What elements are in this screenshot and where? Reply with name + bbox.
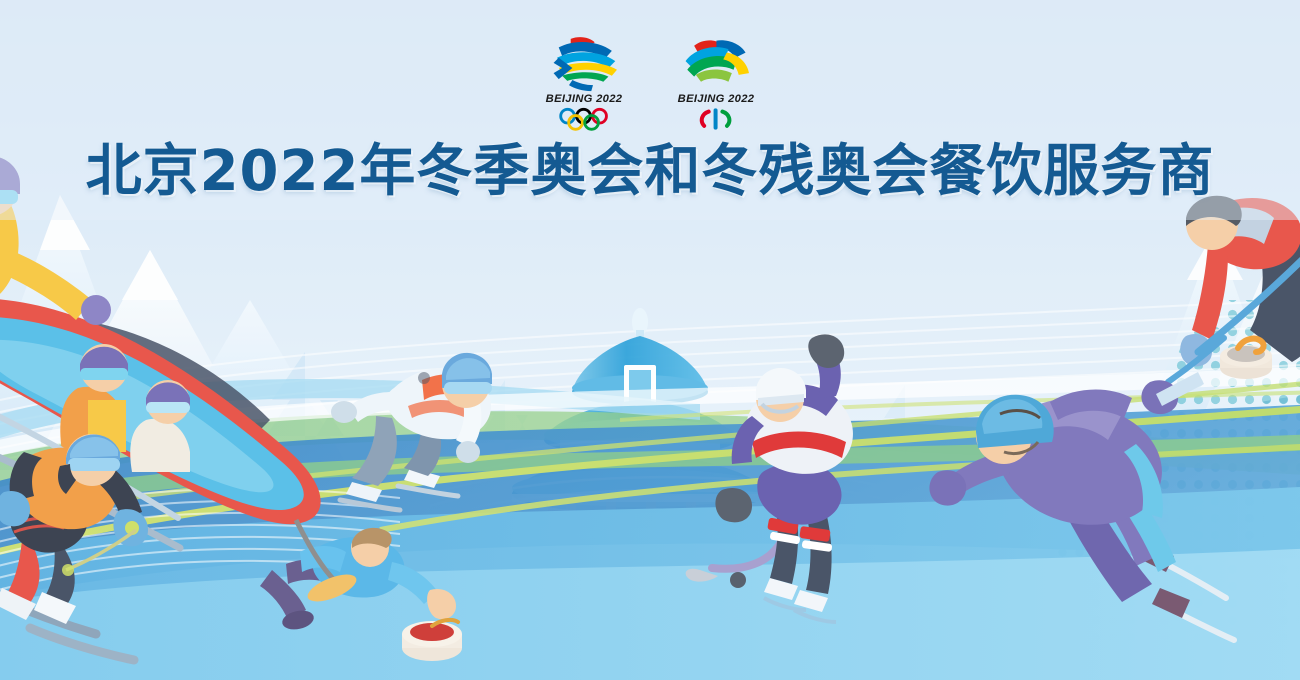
paralympic-wordmark: BEIJING 2022 (660, 93, 772, 105)
olympic-rings-icon (555, 107, 612, 131)
beijing-2022-catering-services-banner: BEIJING 2022 BEIJING 2022 (0, 0, 1300, 680)
beijing-2022-winter-paralympics-emblem-icon (665, 32, 768, 92)
curling-stone-red (402, 620, 462, 661)
beijing-2022-winter-olympics-emblem-icon (533, 32, 636, 92)
emblem-row: BEIJING 2022 BEIJING 2022 (0, 32, 1300, 131)
paralympic-emblem-block: BEIJING 2022 (661, 32, 771, 131)
olympic-emblem-block: BEIJING 2022 (529, 32, 639, 131)
olympic-wordmark: BEIJING 2022 (528, 93, 640, 105)
paralympic-agitos-icon (687, 107, 744, 131)
banner-title-container: 北京2022年冬季奥会和冬残奥会餐饮服务商 (0, 140, 1300, 204)
banner-title: 北京2022年冬季奥会和冬残奥会餐饮服务商 (86, 140, 1215, 204)
